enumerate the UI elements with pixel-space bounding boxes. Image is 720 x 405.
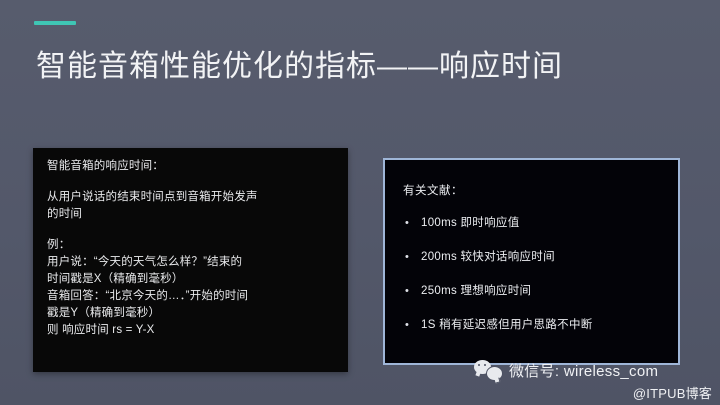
bullet-icon: • (403, 284, 421, 299)
spacer (47, 223, 336, 237)
definition-panel: 智能音箱的响应时间： 从用户说话的结束时间点到音箱开始发声 的时间 例： 用户说… (33, 148, 348, 372)
wechat-bubble-small (486, 366, 503, 381)
list-item: • 200ms 较快对话响应时间 (403, 250, 664, 265)
page-title: 智能音箱性能优化的指标——响应时间 (36, 46, 563, 88)
slide-canvas: 智能音箱性能优化的指标——响应时间 智能音箱的响应时间： 从用户说话的结束时间点… (0, 0, 720, 405)
wechat-dot (478, 364, 480, 366)
wechat-dot (490, 370, 492, 372)
wechat-dot (484, 364, 486, 366)
list-item-label: 1S 稍有延迟感但用户思路不中断 (421, 318, 593, 333)
bullet-icon: • (403, 318, 421, 333)
example-line-1: 用户说：“今天的天气怎么样？”结束的 (47, 254, 336, 271)
accent-bar (34, 21, 76, 25)
watermark: 微信号: wireless_com @ITPUB博客 (474, 358, 714, 402)
bullet-icon: • (403, 216, 421, 231)
list-item-label: 250ms 理想响应时间 (421, 284, 531, 299)
definition-body-line-1: 从用户说话的结束时间点到音箱开始发声 (47, 189, 336, 206)
list-item: • 1S 稍有延迟感但用户思路不中断 (403, 318, 664, 333)
wechat-icon (474, 359, 504, 381)
wechat-dot (496, 370, 498, 372)
formula-line: 则 响应时间 rs = Y-X (47, 322, 336, 339)
example-label: 例： (47, 237, 336, 254)
list-item: • 250ms 理想响应时间 (403, 284, 664, 299)
spacer (47, 175, 336, 189)
list-item-label: 200ms 较快对话响应时间 (421, 250, 555, 265)
bullet-icon: • (403, 250, 421, 265)
example-line-4: 戳是Y（精确到毫秒） (47, 305, 336, 322)
list-item-label: 100ms 即时响应值 (421, 216, 520, 231)
definition-heading: 智能音箱的响应时间： (47, 158, 336, 175)
references-list: • 100ms 即时响应值 • 200ms 较快对话响应时间 • 250ms 理… (403, 216, 664, 333)
wechat-account-text: 微信号: wireless_com (509, 360, 658, 381)
watermark-row: 微信号: wireless_com (474, 358, 714, 382)
list-item: • 100ms 即时响应值 (403, 216, 664, 231)
references-heading: 有关文献： (403, 182, 664, 198)
example-line-3: 音箱回答：“北京今天的…．”开始的时间 (47, 288, 336, 305)
references-panel: 有关文献： • 100ms 即时响应值 • 200ms 较快对话响应时间 • 2… (383, 158, 680, 365)
watermark-source-text: @ITPUB博客 (474, 383, 714, 402)
example-line-2: 时间戳是X（精确到毫秒） (47, 271, 336, 288)
definition-body-line-2: 的时间 (47, 206, 336, 223)
